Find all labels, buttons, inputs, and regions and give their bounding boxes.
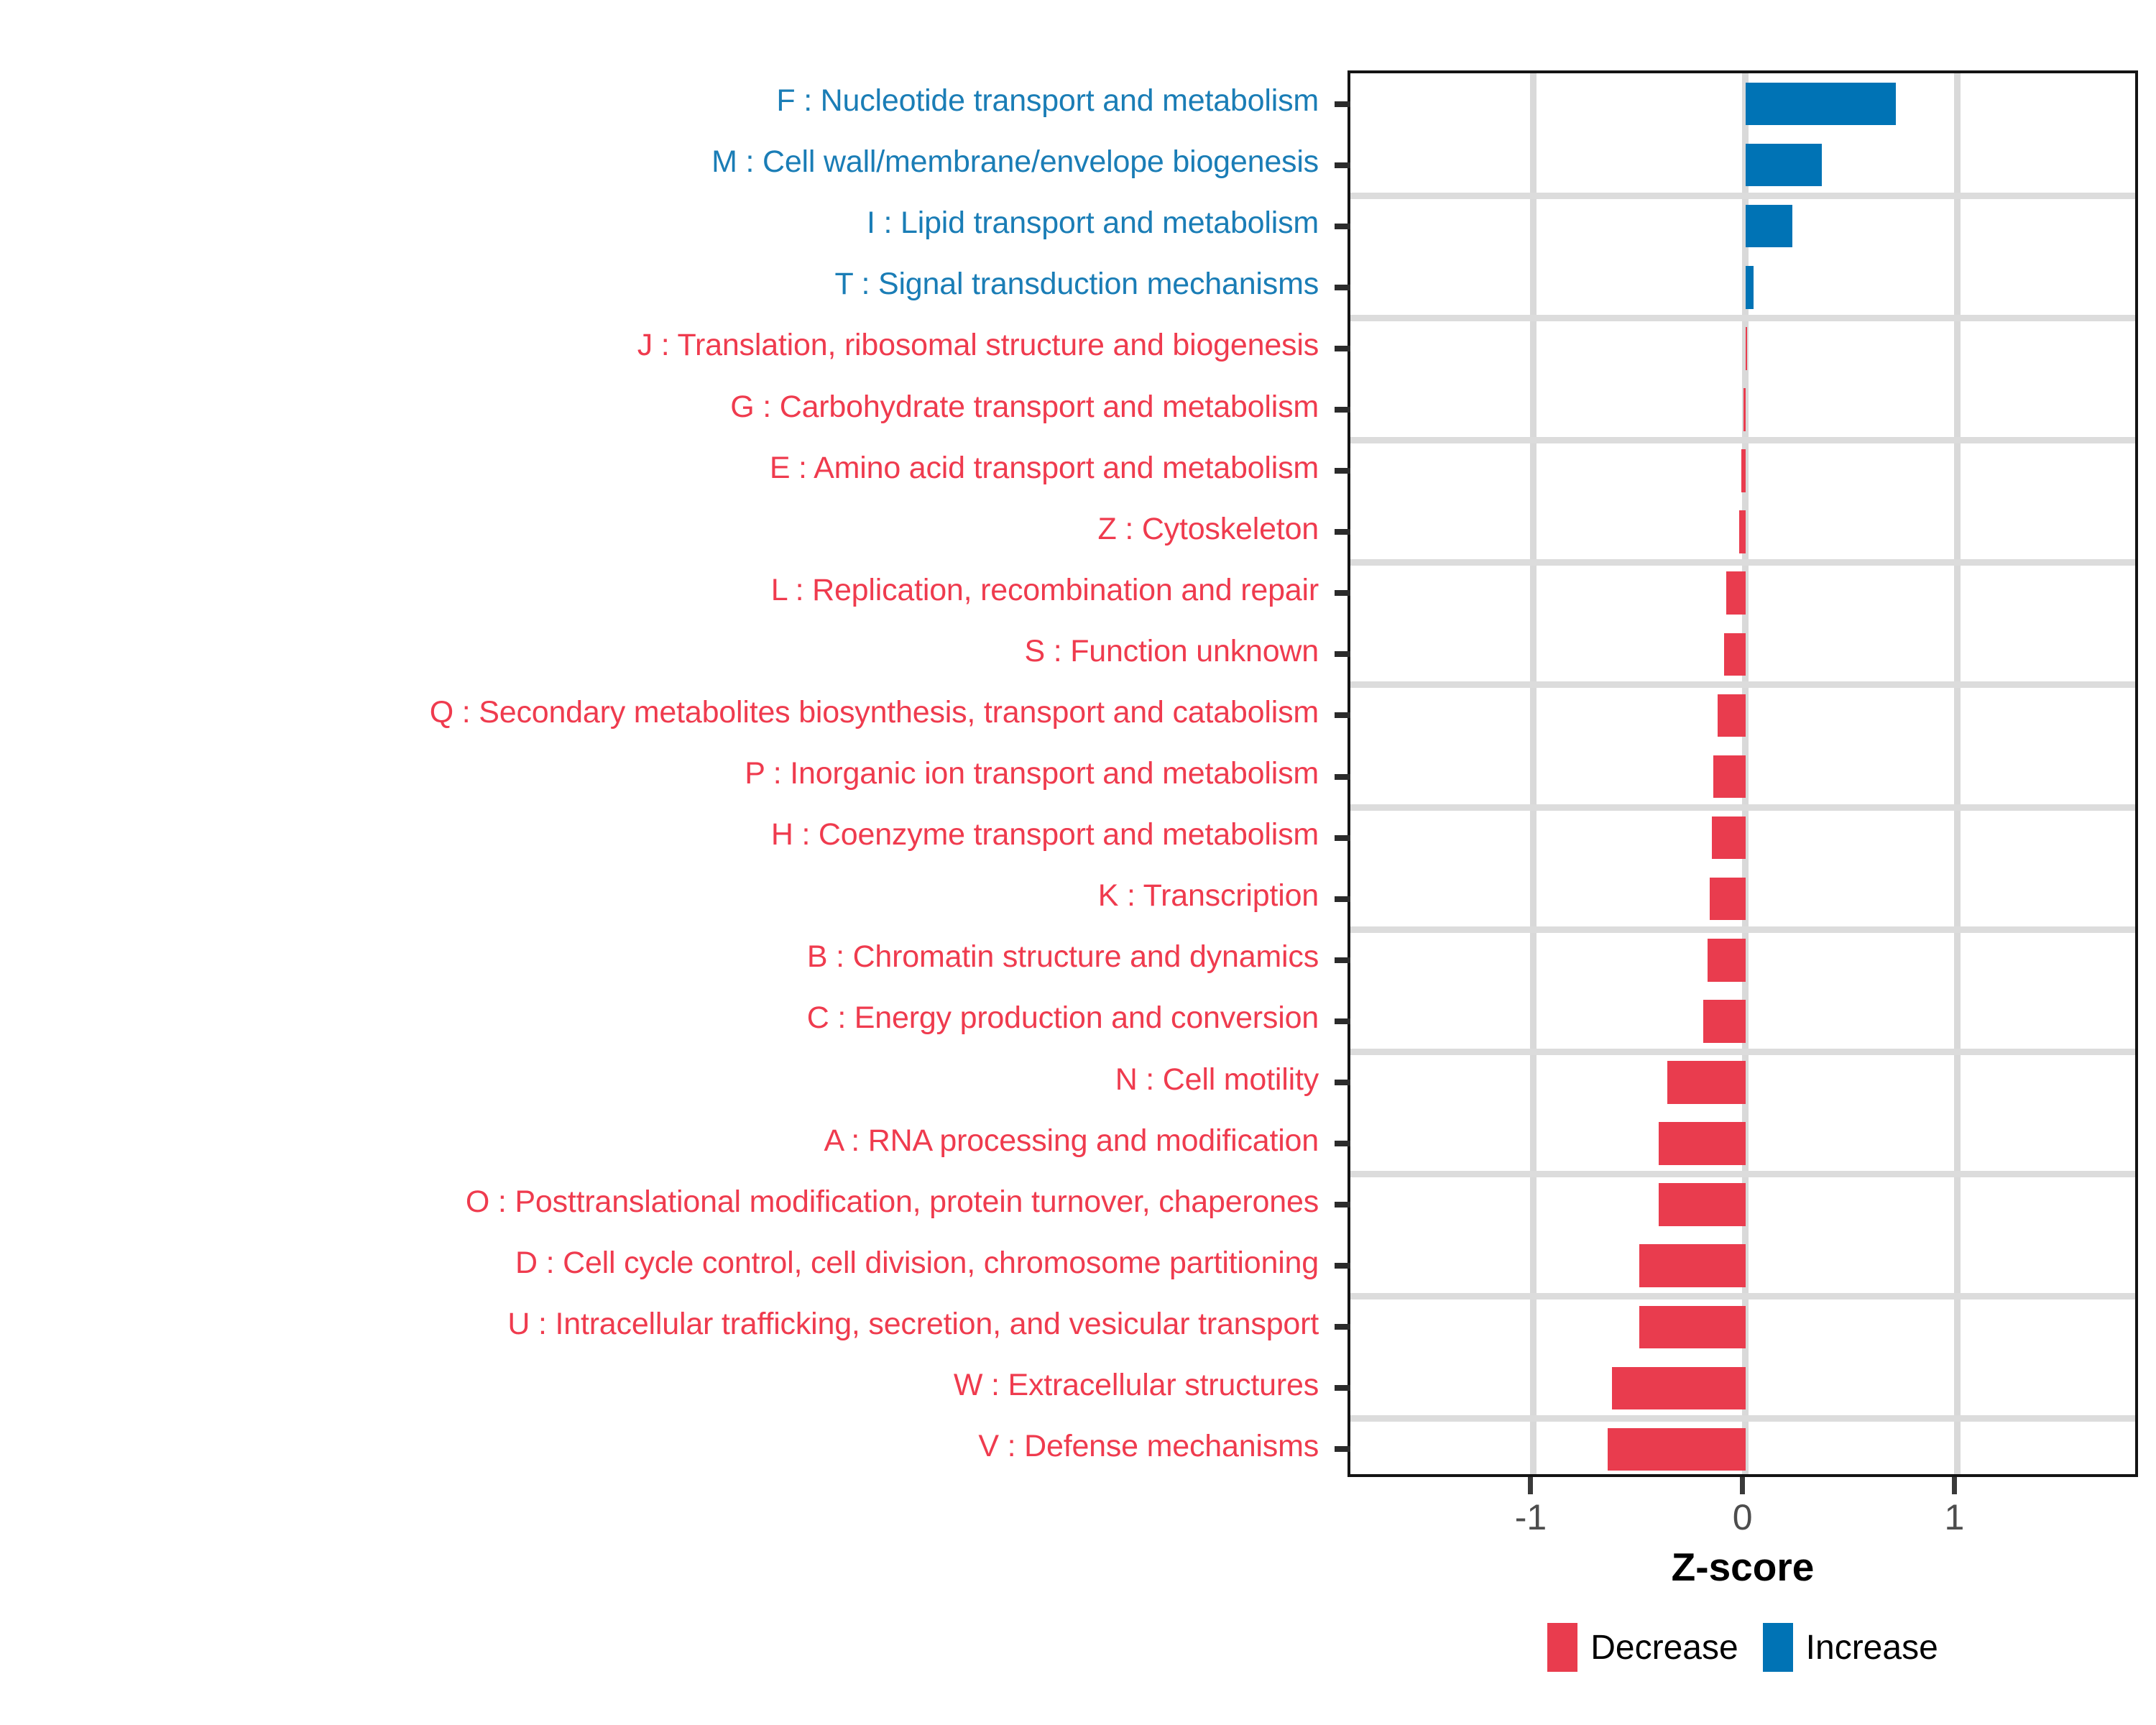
category-tick: [1335, 1018, 1350, 1024]
horizontal-gridline: [1350, 315, 2135, 321]
bar: [1667, 1061, 1746, 1104]
category-tick: [1335, 1263, 1350, 1269]
category-tick: [1335, 468, 1350, 474]
bar: [1703, 1000, 1746, 1043]
horizontal-gridline: [1350, 804, 2135, 811]
horizontal-gridline: [1350, 559, 2135, 566]
category-tick: [1335, 1385, 1350, 1391]
vertical-gridline: [1530, 73, 1537, 1474]
category-label-row: Q : Secondary metabolites biosynthesis, …: [0, 682, 1326, 743]
category-label-row: S : Function unknown: [0, 621, 1326, 682]
bar: [1746, 144, 1822, 187]
category-tick: [1335, 224, 1350, 229]
category-label: V : Defense mechanisms: [978, 1431, 1319, 1462]
bar: [1639, 1306, 1745, 1349]
category-tick: [1335, 346, 1350, 351]
category-label-row: P : Inorganic ion transport and metaboli…: [0, 743, 1326, 804]
bar: [1746, 327, 1747, 370]
x-axis-tick-label: 1: [1945, 1496, 1965, 1538]
cog-zscore-bar-chart: F : Nucleotide transport and metabolismM…: [0, 0, 2156, 1725]
bar: [1743, 388, 1746, 431]
bar: [1741, 449, 1746, 492]
bar: [1746, 205, 1792, 248]
bar: [1710, 878, 1746, 921]
category-label-row: I : Lipid transport and metabolism: [0, 193, 1326, 254]
horizontal-gridline: [1350, 1415, 2135, 1422]
category-label: H : Coenzyme transport and metabolism: [771, 819, 1319, 850]
legend-item[interactable]: Increase: [1763, 1623, 1938, 1672]
horizontal-gridline: [1350, 926, 2135, 933]
category-label: O : Posttranslational modification, prot…: [466, 1187, 1319, 1218]
category-label-row: O : Posttranslational modification, prot…: [0, 1172, 1326, 1233]
category-tick: [1335, 1446, 1350, 1452]
legend-swatch: [1763, 1623, 1793, 1672]
horizontal-gridline: [1350, 437, 2135, 443]
category-tick: [1335, 835, 1350, 841]
category-label: J : Translation, ribosomal structure and…: [637, 330, 1319, 361]
x-axis-tick: [1952, 1477, 1957, 1494]
category-label-row: N : Cell motility: [0, 1049, 1326, 1110]
category-tick: [1335, 1080, 1350, 1085]
category-label-row: W : Extracellular structures: [0, 1355, 1326, 1416]
category-tick: [1335, 1202, 1350, 1207]
category-tick: [1335, 407, 1350, 413]
horizontal-gridline: [1350, 681, 2135, 688]
bar: [1746, 266, 1754, 309]
category-label: Z : Cytoskeleton: [1098, 514, 1319, 545]
x-axis-title: Z-score: [1347, 1544, 2138, 1590]
category-label-row: D : Cell cycle control, cell division, c…: [0, 1233, 1326, 1294]
x-axis-tick-label: 0: [1733, 1496, 1753, 1538]
category-label-row: H : Coenzyme transport and metabolism: [0, 804, 1326, 865]
horizontal-gridline: [1350, 1293, 2135, 1299]
legend-label: Decrease: [1590, 1628, 1738, 1667]
category-tick: [1335, 285, 1350, 290]
category-label-row: V : Defense mechanisms: [0, 1416, 1326, 1477]
category-label: L : Replication, recombination and repai…: [771, 575, 1319, 606]
category-tick: [1335, 1324, 1350, 1330]
category-tick: [1335, 957, 1350, 963]
bar: [1724, 633, 1745, 676]
category-label: N : Cell motility: [1115, 1064, 1319, 1095]
category-label-row: K : Transcription: [0, 865, 1326, 926]
bar: [1713, 755, 1745, 799]
category-label: Q : Secondary metabolites biosynthesis, …: [430, 697, 1319, 728]
horizontal-gridline: [1350, 1049, 2135, 1055]
legend-item[interactable]: Decrease: [1547, 1623, 1738, 1672]
category-label: T : Signal transduction mechanisms: [834, 269, 1319, 300]
bar: [1739, 510, 1746, 553]
bar: [1612, 1367, 1746, 1410]
bar: [1712, 816, 1746, 860]
category-tick: [1335, 1141, 1350, 1146]
category-label: K : Transcription: [1098, 880, 1319, 911]
category-label-row: L : Replication, recombination and repai…: [0, 560, 1326, 621]
category-label-row: B : Chromatin structure and dynamics: [0, 926, 1326, 988]
x-axis-tick: [1528, 1477, 1533, 1494]
bar: [1608, 1428, 1746, 1471]
category-label: A : RNA processing and modification: [824, 1126, 1319, 1156]
category-label: C : Energy production and conversion: [807, 1003, 1319, 1034]
bar: [1659, 1183, 1746, 1226]
bar: [1718, 694, 1745, 737]
category-label-row: M : Cell wall/membrane/envelope biogenes…: [0, 132, 1326, 193]
category-label-row: T : Signal transduction mechanisms: [0, 254, 1326, 315]
bar: [1639, 1244, 1745, 1287]
category-label: D : Cell cycle control, cell division, c…: [515, 1248, 1319, 1279]
category-label: M : Cell wall/membrane/envelope biogenes…: [711, 147, 1319, 178]
category-tick: [1335, 162, 1350, 168]
category-label-row: G : Carbohydrate transport and metabolis…: [0, 376, 1326, 437]
category-label: F : Nucleotide transport and metabolism: [776, 86, 1319, 116]
x-axis-tick-label: -1: [1515, 1496, 1547, 1538]
category-label-row: E : Amino acid transport and metabolism: [0, 438, 1326, 499]
category-tick: [1335, 590, 1350, 596]
legend-label: Increase: [1806, 1628, 1938, 1667]
plot-area: [1350, 73, 2135, 1474]
chart-legend: DecreaseIncrease: [1347, 1623, 2138, 1672]
category-label-row: J : Translation, ribosomal structure and…: [0, 315, 1326, 376]
category-tick: [1335, 651, 1350, 657]
bar: [1659, 1122, 1746, 1165]
bar: [1708, 939, 1746, 982]
category-label-row: Z : Cytoskeleton: [0, 499, 1326, 560]
category-label: U : Intracellular trafficking, secretion…: [507, 1309, 1319, 1340]
category-tick: [1335, 896, 1350, 902]
category-label: W : Extracellular structures: [954, 1370, 1319, 1401]
category-tick: [1335, 529, 1350, 535]
horizontal-gridline: [1350, 1171, 2135, 1177]
x-axis-tick: [1740, 1477, 1745, 1494]
category-label: I : Lipid transport and metabolism: [867, 208, 1319, 239]
horizontal-gridline: [1350, 193, 2135, 199]
category-label: B : Chromatin structure and dynamics: [807, 942, 1319, 972]
category-tick: [1335, 712, 1350, 718]
category-label-row: C : Energy production and conversion: [0, 988, 1326, 1049]
category-tick: [1335, 101, 1350, 107]
category-label-row: A : RNA processing and modification: [0, 1110, 1326, 1172]
bar: [1746, 83, 1896, 126]
vertical-gridline: [1954, 73, 1961, 1474]
category-tick: [1335, 774, 1350, 780]
legend-swatch: [1547, 1623, 1577, 1672]
category-axis-labels: F : Nucleotide transport and metabolismM…: [0, 70, 1326, 1477]
category-label-row: F : Nucleotide transport and metabolism: [0, 70, 1326, 132]
bar: [1726, 571, 1746, 615]
plot-panel: [1347, 70, 2138, 1477]
category-label: G : Carbohydrate transport and metabolis…: [730, 392, 1319, 423]
category-label: S : Function unknown: [1024, 636, 1319, 667]
category-label: P : Inorganic ion transport and metaboli…: [745, 758, 1319, 789]
category-label-row: U : Intracellular trafficking, secretion…: [0, 1294, 1326, 1355]
category-label: E : Amino acid transport and metabolism: [770, 453, 1319, 484]
